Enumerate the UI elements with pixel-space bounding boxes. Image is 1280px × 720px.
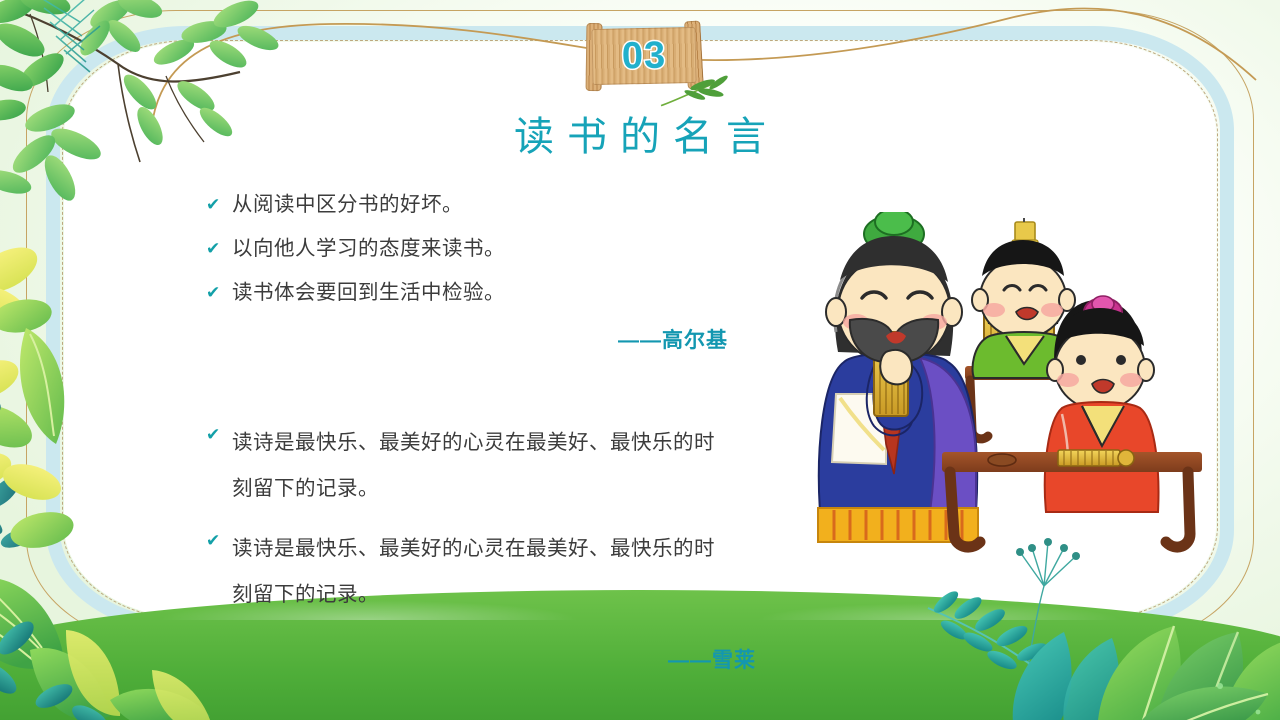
section-number-banner: 03 xyxy=(585,21,702,91)
quote-text: 读书体会要回到生活中检验。 xyxy=(232,278,505,308)
quote-text: 读诗是最快乐、最美好的心灵在最美好、最快乐的时刻留下的记录。 xyxy=(232,526,732,618)
list-item: ✔ 读书体会要回到生活中检验。 xyxy=(206,278,766,308)
foliage-bottom-left xyxy=(0,520,270,720)
foliage-left xyxy=(0,230,150,570)
ink-stone xyxy=(988,454,1016,466)
student-red xyxy=(1045,296,1159,512)
list-item: ✔ 从阅读中区分书的好坏。 xyxy=(206,190,766,220)
quote-attribution: ——高尔基 xyxy=(206,324,766,354)
bamboo-scroll xyxy=(1058,450,1134,466)
quote-text: 从阅读中区分书的好坏。 xyxy=(232,190,463,220)
quote-text: 以向他人学习的态度来读书。 xyxy=(232,234,505,264)
list-item: ✔ 以向他人学习的态度来读书。 xyxy=(206,234,766,264)
check-icon: ✔ xyxy=(206,190,232,220)
quote-group-2: ✔ 读诗是最快乐、最美好的心灵在最美好、最快乐的时刻留下的记录。 ✔ 读诗是最快… xyxy=(206,420,766,674)
foliage-bottom-right xyxy=(920,490,1280,720)
check-icon: ✔ xyxy=(206,420,232,450)
quote-attribution: ——雪莱 xyxy=(206,644,766,674)
check-icon: ✔ xyxy=(206,234,232,264)
quote-group-1: ✔ 从阅读中区分书的好坏。 ✔ 以向他人学习的态度来读书。 ✔ 读书体会要回到生… xyxy=(206,190,766,354)
page-title: 读书的名言 xyxy=(0,104,1280,162)
quotes-content: ✔ 从阅读中区分书的好坏。 ✔ 以向他人学习的态度来读书。 ✔ 读书体会要回到生… xyxy=(206,190,766,674)
list-item: ✔ 读诗是最快乐、最美好的心灵在最美好、最快乐的时刻留下的记录。 xyxy=(206,420,766,512)
check-icon: ✔ xyxy=(206,278,232,308)
quote-text: 读诗是最快乐、最美好的心灵在最美好、最快乐的时刻留下的记录。 xyxy=(232,420,732,512)
list-item: ✔ 读诗是最快乐、最美好的心灵在最美好、最快乐的时刻留下的记录。 xyxy=(206,526,766,618)
slide-canvas: 03 读书的名言 ✔ 从阅读中区分书的好坏。 ✔ 以向他人学习的态度来读书。 xyxy=(0,0,1280,720)
